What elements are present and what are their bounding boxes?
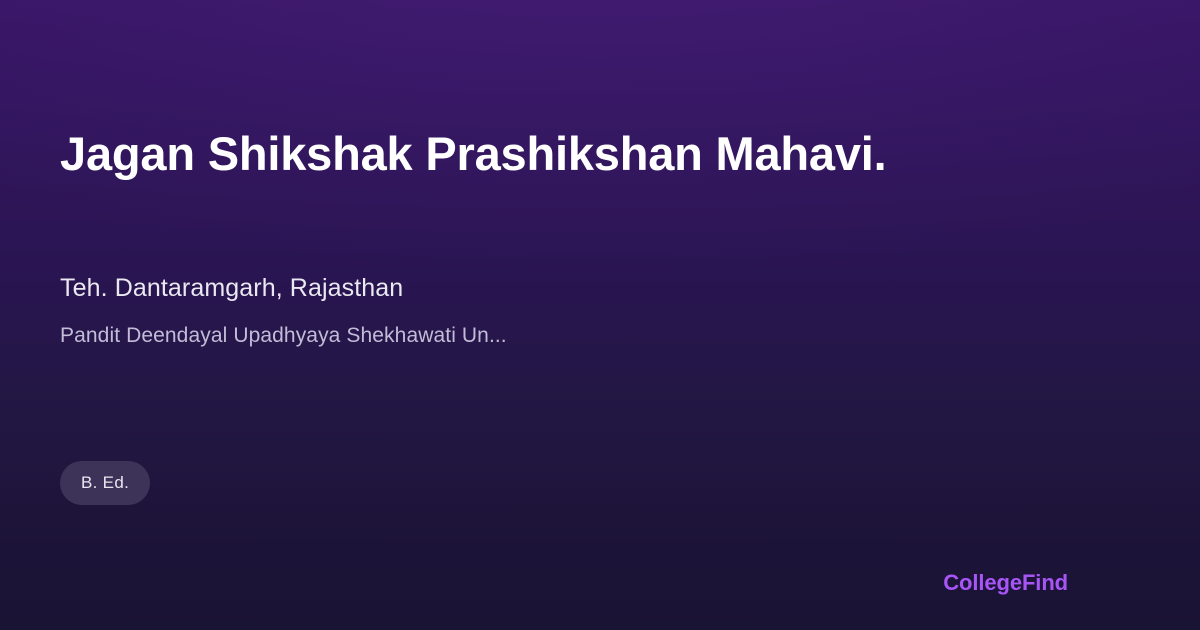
card-meta: Teh. Dantaramgarh, Rajasthan Pandit Deen…	[60, 272, 507, 349]
course-tag-list: B. Ed.	[60, 461, 150, 505]
card-content: Jagan Shikshak Prashikshan Mahavi. Teh. …	[0, 0, 1200, 630]
og-share-card: Jagan Shikshak Prashikshan Mahavi. Teh. …	[0, 0, 1200, 630]
page-title: Jagan Shikshak Prashikshan Mahavi.	[60, 126, 887, 181]
college-location: Teh. Dantaramgarh, Rajasthan	[60, 272, 507, 305]
course-tag-b-ed: B. Ed.	[60, 461, 150, 505]
affiliated-university: Pandit Deendayal Upadhyaya Shekhawati Un…	[60, 322, 507, 349]
brand-wordmark: CollegeFind	[943, 570, 1068, 596]
